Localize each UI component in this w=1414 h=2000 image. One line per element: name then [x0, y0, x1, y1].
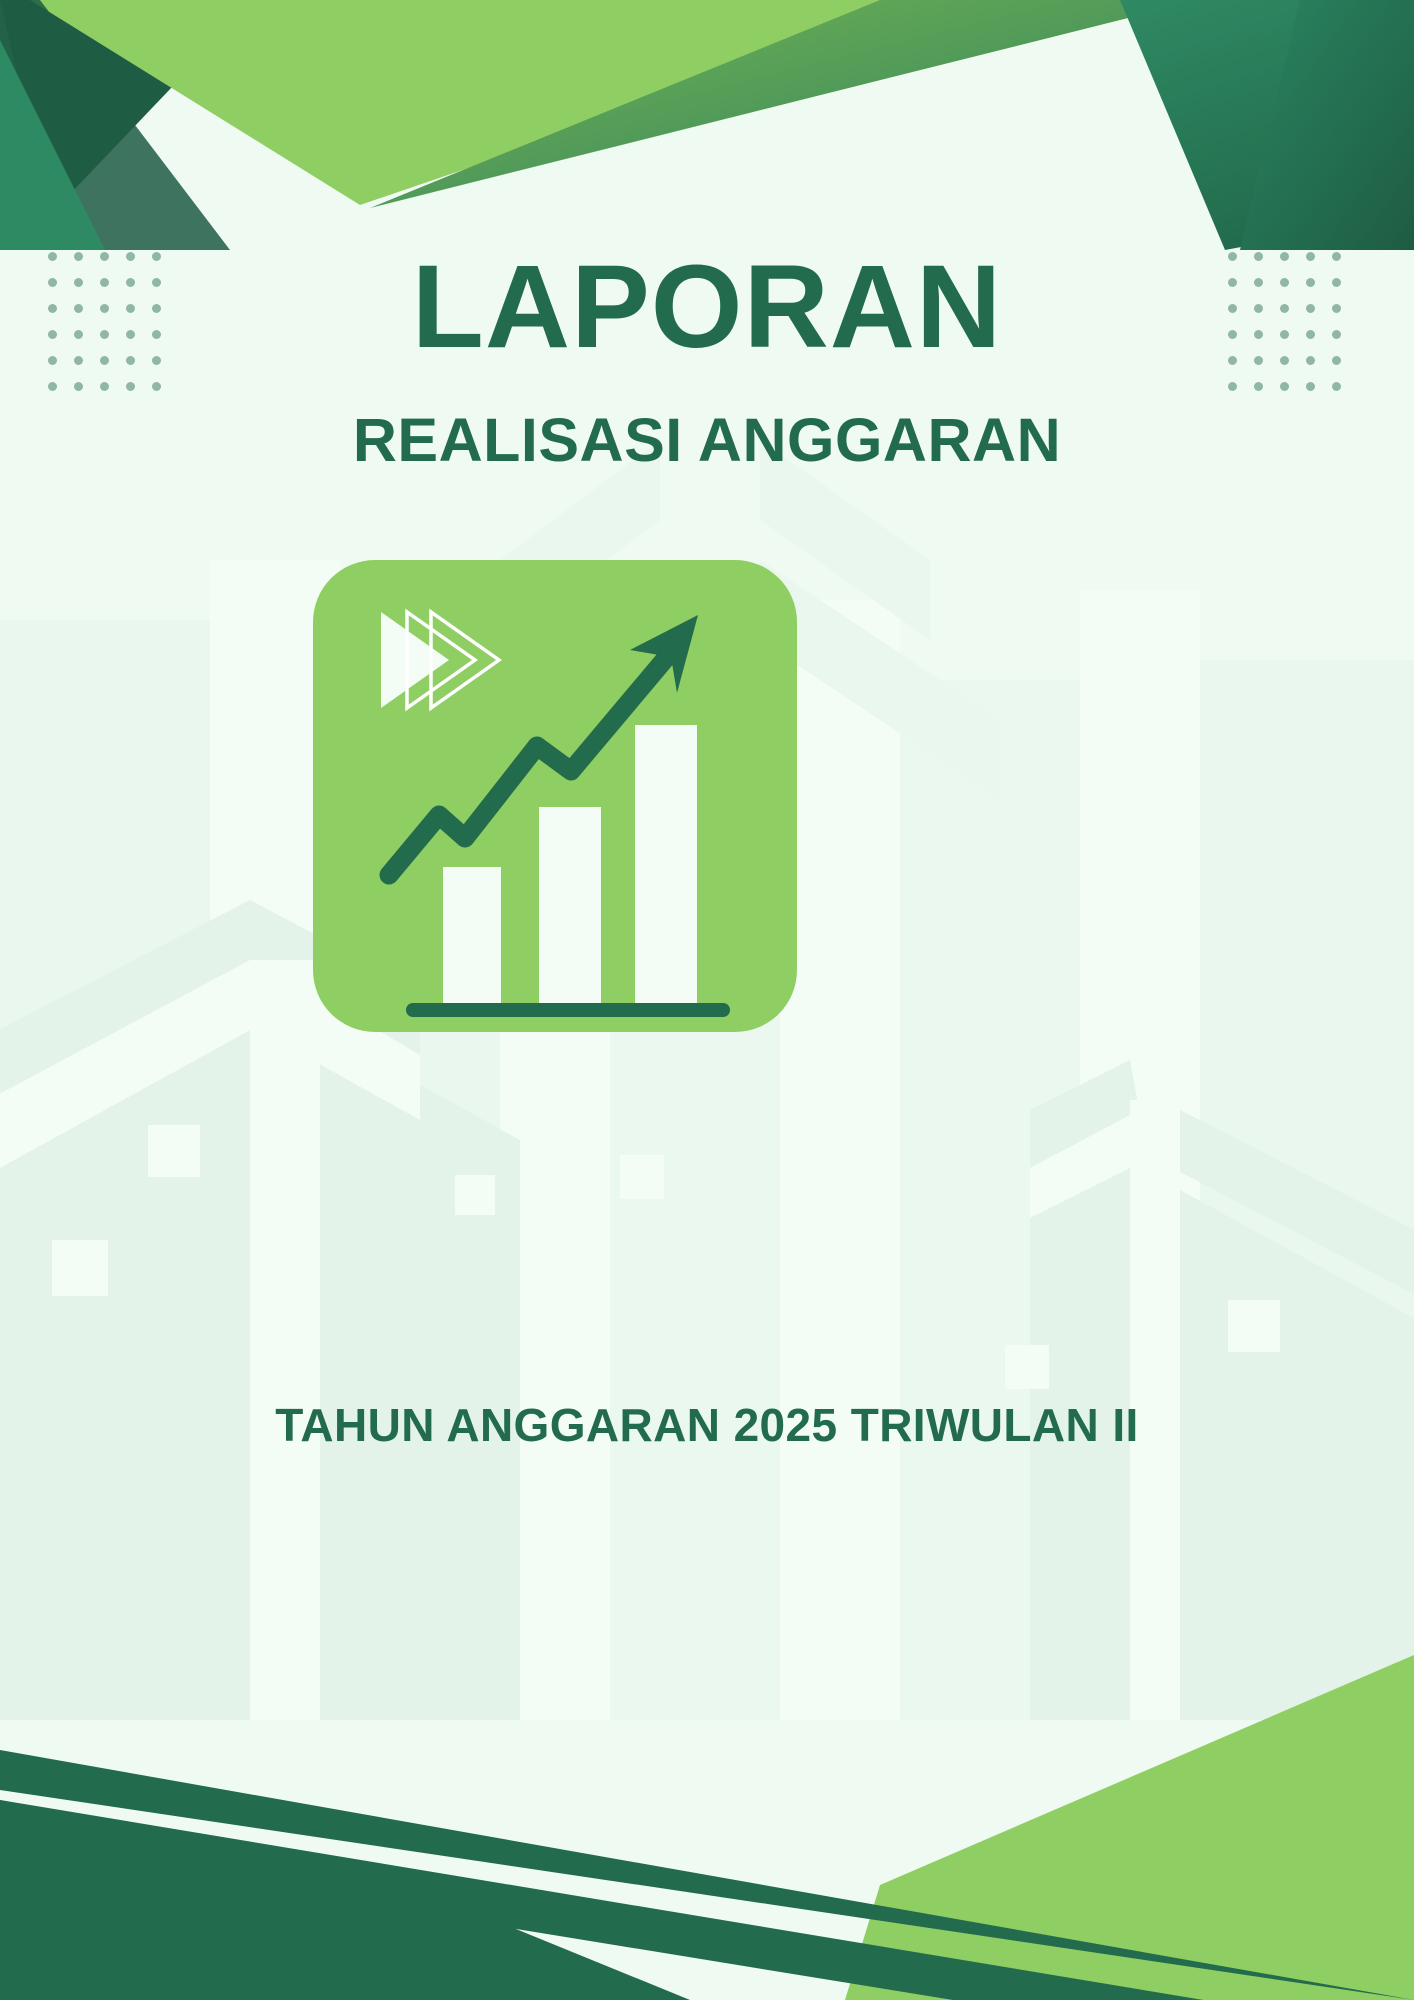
report-cover-page: LAPORAN REALISASI ANGGARAN	[0, 0, 1414, 2000]
chart-baseline	[406, 1003, 730, 1017]
growth-bar-chart-logo	[313, 560, 797, 1032]
bar-large	[635, 725, 697, 1008]
period-label: TAHUN ANGGARAN 2025 TRIWULAN II	[0, 1402, 1414, 1448]
bar-small	[443, 867, 501, 1008]
bar-medium	[539, 807, 601, 1008]
page-subtitle: REALISASI ANGGARAN	[0, 366, 1414, 471]
page-title: LAPORAN	[0, 248, 1414, 366]
title-block: LAPORAN REALISASI ANGGARAN	[0, 248, 1414, 471]
